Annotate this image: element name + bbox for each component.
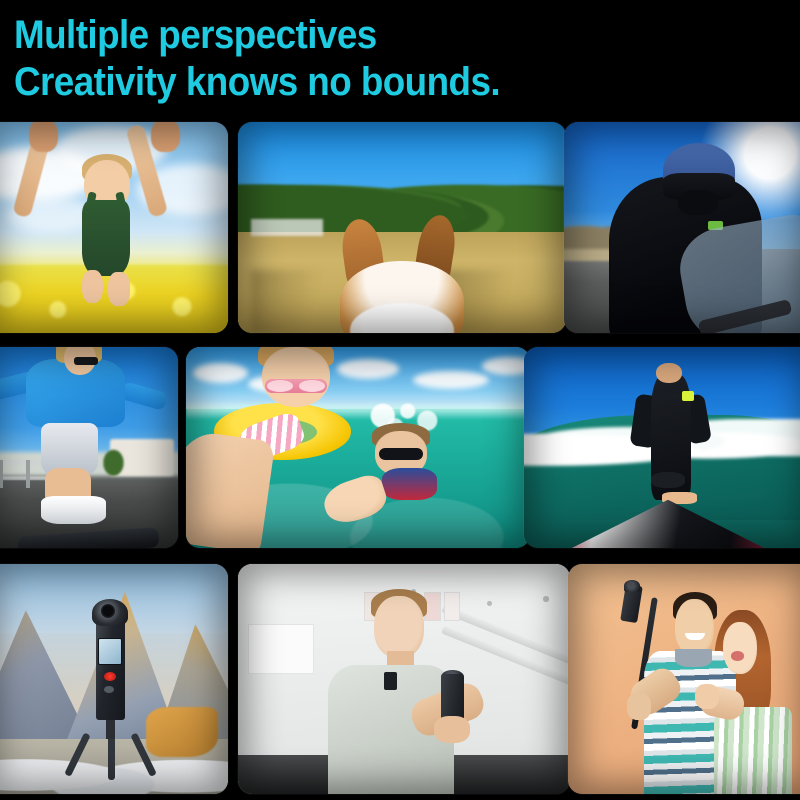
photo-panel-camera-tripod[interactable] (0, 564, 228, 794)
photo-panel-man-handheld[interactable] (238, 564, 570, 794)
headline-line-2: Creativity knows no bounds. (14, 59, 724, 106)
scene-camera-tripod (0, 564, 228, 794)
photo-panel-skateboarder[interactable] (0, 347, 178, 548)
scene-couple-selfie (568, 564, 800, 794)
page-title: Multiple perspectives Creativity knows n… (14, 12, 724, 106)
scene-surfer (524, 347, 800, 548)
photo-panel-surfer[interactable] (524, 347, 800, 548)
photo-panel-motorcycle-rider[interactable] (564, 122, 800, 333)
scene-skateboarder (0, 347, 178, 548)
promo-collage-page: Multiple perspectives Creativity knows n… (0, 0, 800, 800)
photo-grid (0, 122, 800, 800)
scene-motorcycle-rider (564, 122, 800, 333)
photo-panel-dog-park[interactable] (238, 122, 566, 333)
scene-dog-park (238, 122, 566, 333)
photo-panel-kids-swimming[interactable] (186, 347, 530, 548)
scene-child-swing (0, 122, 228, 333)
photo-panel-couple-selfie[interactable] (568, 564, 800, 794)
headline-line-1: Multiple perspectives (14, 13, 377, 57)
photo-panel-child-swing[interactable] (0, 122, 228, 333)
scene-kids-swimming (186, 347, 530, 548)
scene-man-handheld (238, 564, 570, 794)
